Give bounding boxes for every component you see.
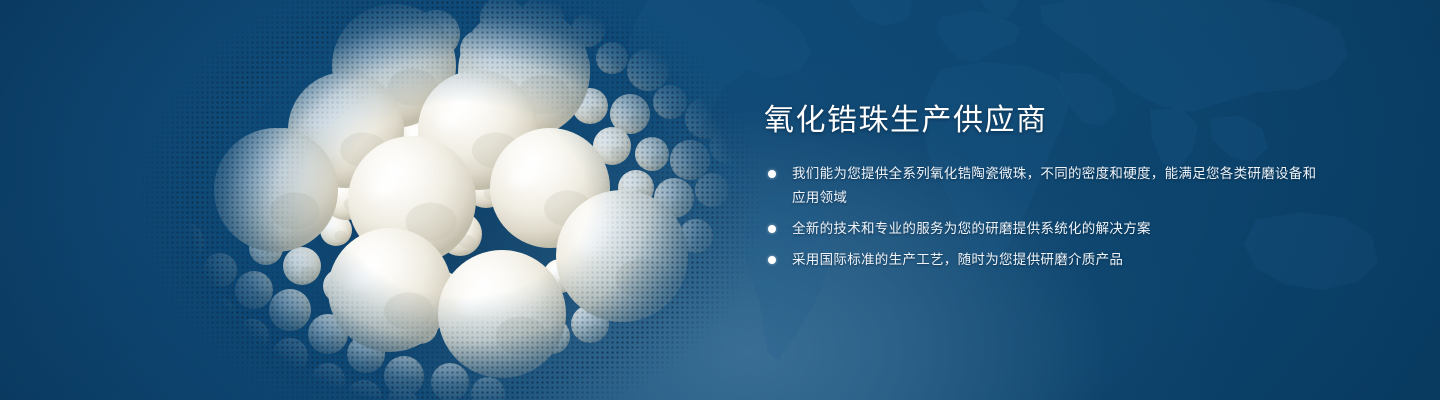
list-item: 全新的技术和专业的服务为您的研磨提供系统化的解决方案 bbox=[764, 217, 1324, 241]
bullet-text: 全新的技术和专业的服务为您的研磨提供系统化的解决方案 bbox=[792, 217, 1324, 241]
banner-feature-list: 我们能为您提供全系列氧化锆陶瓷微珠，不同的密度和硬度，能满足您各类研磨设备和应用… bbox=[764, 162, 1324, 272]
bullet-text: 采用国际标准的生产工艺，随时为您提供研磨介质产品 bbox=[792, 248, 1324, 272]
banner-copy: 氧化锆珠生产供应商 我们能为您提供全系列氧化锆陶瓷微珠，不同的密度和硬度，能满足… bbox=[764, 104, 1324, 272]
zirconia-beads-photo bbox=[150, 0, 750, 400]
bullet-dot-icon bbox=[768, 170, 776, 178]
list-item: 采用国际标准的生产工艺，随时为您提供研磨介质产品 bbox=[764, 248, 1324, 272]
bullet-dot-icon bbox=[768, 256, 776, 264]
banner-headline: 氧化锆珠生产供应商 bbox=[764, 104, 1324, 138]
bullet-text: 我们能为您提供全系列氧化锆陶瓷微珠，不同的密度和硬度，能满足您各类研磨设备和应用… bbox=[792, 162, 1324, 210]
list-item: 我们能为您提供全系列氧化锆陶瓷微珠，不同的密度和硬度，能满足您各类研磨设备和应用… bbox=[764, 162, 1324, 210]
hero-banner: 氧化锆珠生产供应商 我们能为您提供全系列氧化锆陶瓷微珠，不同的密度和硬度，能满足… bbox=[0, 0, 1440, 400]
bullet-dot-icon bbox=[768, 225, 776, 233]
